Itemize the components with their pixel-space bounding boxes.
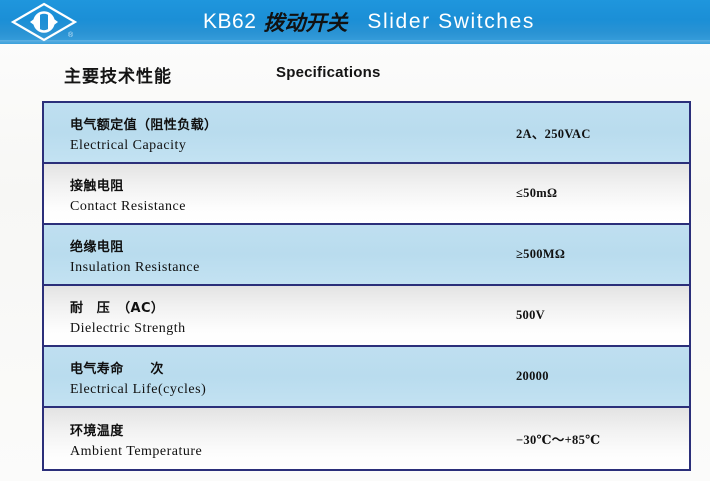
product-title-chinese: 拨动开关 bbox=[263, 7, 347, 37]
spec-label-english: Contact Resistance bbox=[70, 197, 464, 217]
spec-label-english: Electrical Capacity bbox=[70, 136, 464, 156]
table-row: 绝缘电阻 Insulation Resistance ≥500MΩ bbox=[44, 225, 689, 286]
product-title-english: Slider Switches bbox=[367, 10, 535, 34]
page-header-banner: ® KB62 拨动开关 Slider Switches bbox=[0, 0, 710, 44]
spec-label-chinese: 环境温度 bbox=[70, 422, 464, 441]
table-row: 电气寿命 次 Electrical Life(cycles) 20000 bbox=[44, 347, 689, 408]
spec-label-english: Ambient Temperature bbox=[70, 442, 464, 462]
spec-label-chinese: 绝缘电阻 bbox=[70, 238, 464, 257]
section-heading-english: Specifications bbox=[276, 64, 381, 81]
spec-label-chinese: 电气额定值（阻性负载） bbox=[70, 116, 464, 135]
spec-label-cell: 环境温度 Ambient Temperature bbox=[44, 408, 464, 469]
section-heading-row: 主要技术性能 Specifications bbox=[0, 62, 710, 92]
spec-label-cell: 接触电阻 Contact Resistance bbox=[44, 164, 464, 223]
spec-label-cell: 绝缘电阻 Insulation Resistance bbox=[44, 225, 464, 284]
spec-value-cell: 2A、250VAC bbox=[464, 103, 689, 162]
section-heading-chinese: 主要技术性能 bbox=[64, 62, 172, 87]
spec-label-cell: 耐 压 （AC） Dielectric Strength bbox=[44, 286, 464, 345]
spec-label-english: Dielectric Strength bbox=[70, 319, 464, 339]
spec-label-english: Electrical Life(cycles) bbox=[70, 380, 464, 400]
spec-label-cell: 电气额定值（阻性负载） Electrical Capacity bbox=[44, 103, 464, 162]
spec-label-english: Insulation Resistance bbox=[70, 258, 464, 278]
specifications-table: 电气额定值（阻性负载） Electrical Capacity 2A、250VA… bbox=[42, 101, 691, 471]
spec-label-chinese: 接触电阻 bbox=[70, 177, 464, 196]
spec-value-cell: 20000 bbox=[464, 347, 689, 406]
spec-value-cell: ≤50mΩ bbox=[464, 164, 689, 223]
banner-title: KB62 拨动开关 Slider Switches bbox=[0, 0, 710, 44]
spec-value-cell: ≥500MΩ bbox=[464, 225, 689, 284]
table-row: 接触电阻 Contact Resistance ≤50mΩ bbox=[44, 164, 689, 225]
spec-value-cell: 500V bbox=[464, 286, 689, 345]
spec-label-cell: 电气寿命 次 Electrical Life(cycles) bbox=[44, 347, 464, 406]
spec-label-chinese: 耐 压 （AC） bbox=[70, 299, 464, 318]
spec-label-chinese: 电气寿命 次 bbox=[70, 360, 464, 379]
table-row: 耐 压 （AC） Dielectric Strength 500V bbox=[44, 286, 689, 347]
spec-value-cell: −30℃～+85℃ bbox=[464, 408, 689, 469]
table-row: 环境温度 Ambient Temperature −30℃～+85℃ bbox=[44, 408, 689, 469]
product-model: KB62 bbox=[203, 10, 256, 34]
table-row: 电气额定值（阻性负载） Electrical Capacity 2A、250VA… bbox=[44, 103, 689, 164]
